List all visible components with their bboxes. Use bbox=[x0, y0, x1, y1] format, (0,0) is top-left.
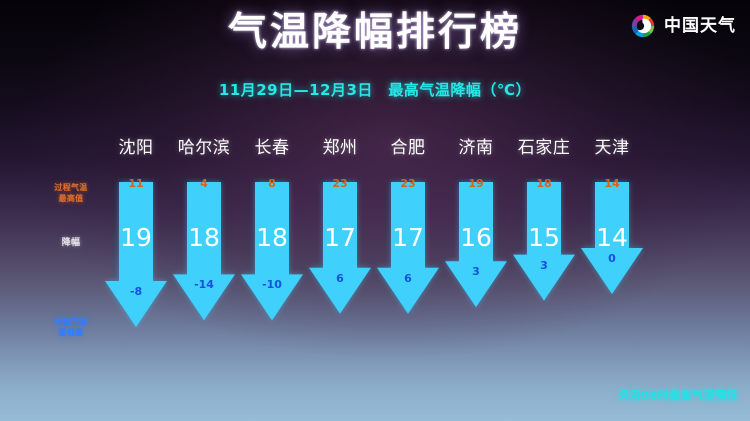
low-value: 6 bbox=[374, 272, 442, 286]
low-value: -8 bbox=[102, 285, 170, 299]
high-value: 23 bbox=[374, 177, 442, 191]
chart-column: 哈尔滨418-14 bbox=[170, 136, 238, 366]
high-value: 23 bbox=[306, 177, 374, 191]
high-value: 11 bbox=[102, 177, 170, 191]
swirl-logo-icon bbox=[629, 12, 657, 40]
low-value: -10 bbox=[238, 278, 306, 292]
chart-column: 长春818-10 bbox=[238, 136, 306, 366]
high-value: 4 bbox=[170, 177, 238, 191]
chart-column: 郑州23176 bbox=[306, 136, 374, 366]
brand-name: 中国天气 bbox=[664, 12, 736, 40]
drop-value: 19 bbox=[102, 223, 170, 253]
brand-logo: 中国天气 bbox=[629, 12, 736, 40]
arrow-chart: 沈阳1119-8哈尔滨418-14长春818-10郑州23176合肥23176济… bbox=[102, 136, 722, 366]
drop-value: 17 bbox=[306, 223, 374, 253]
chart-column: 天津14140 bbox=[578, 136, 646, 366]
drop-value: 18 bbox=[170, 223, 238, 253]
drop-value: 17 bbox=[374, 223, 442, 253]
low-value: 3 bbox=[510, 259, 578, 273]
city-label: 合肥 bbox=[374, 136, 442, 160]
chart-column: 合肥23176 bbox=[374, 136, 442, 366]
chart-column: 济南19163 bbox=[442, 136, 510, 366]
footnote: 采用08时最高气温预报 bbox=[618, 387, 738, 403]
down-arrow-icon bbox=[102, 182, 170, 327]
city-label: 哈尔滨 bbox=[170, 136, 238, 160]
weather-ranking-infographic: 气温降幅排行榜 11月29日—12月3日 最高气温降幅（℃） 中国天气 过程气温… bbox=[0, 0, 750, 421]
high-value: 18 bbox=[510, 177, 578, 191]
drop-value: 14 bbox=[578, 223, 646, 253]
city-label: 天津 bbox=[578, 136, 646, 160]
page-subtitle: 11月29日—12月3日 最高气温降幅（℃） bbox=[0, 79, 750, 101]
drop-value: 16 bbox=[442, 223, 510, 253]
chart-column: 沈阳1119-8 bbox=[102, 136, 170, 366]
high-value: 14 bbox=[578, 177, 646, 191]
city-label: 长春 bbox=[238, 136, 306, 160]
low-value: -14 bbox=[170, 278, 238, 292]
low-value: 6 bbox=[306, 272, 374, 286]
city-label: 沈阳 bbox=[102, 136, 170, 160]
drop-value: 18 bbox=[238, 223, 306, 253]
low-value: 3 bbox=[442, 265, 510, 279]
chart-column: 石家庄18153 bbox=[510, 136, 578, 366]
low-value: 0 bbox=[578, 252, 646, 266]
high-value: 19 bbox=[442, 177, 510, 191]
city-label: 石家庄 bbox=[510, 136, 578, 160]
drop-value: 15 bbox=[510, 223, 578, 253]
city-label: 济南 bbox=[442, 136, 510, 160]
high-value: 8 bbox=[238, 177, 306, 191]
city-label: 郑州 bbox=[306, 136, 374, 160]
